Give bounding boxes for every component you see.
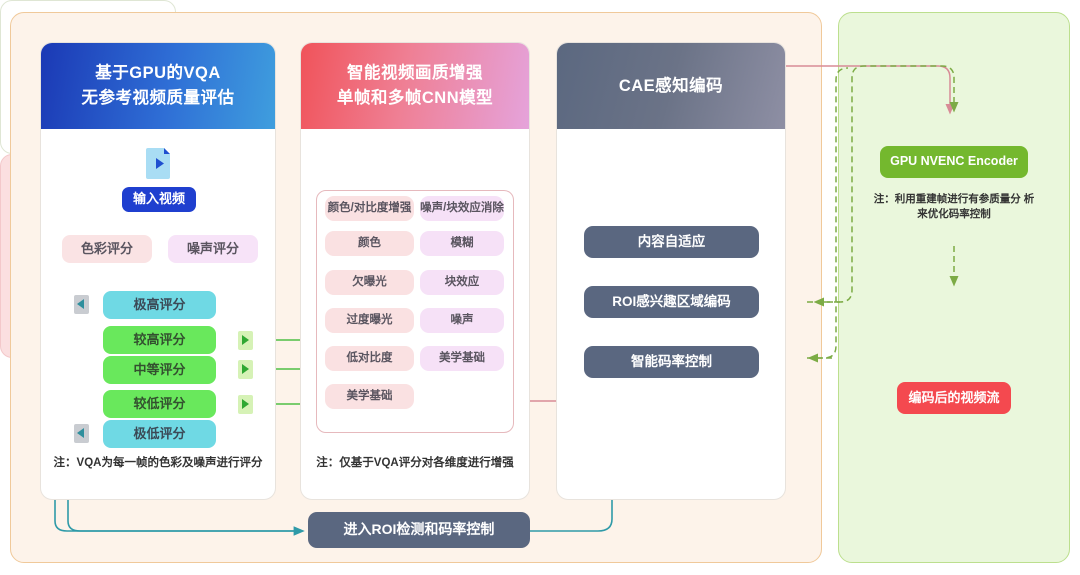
node-noise-score[interactable]: 噪声评分 [168, 235, 258, 263]
node-level-very-high[interactable]: 极高评分 [103, 291, 216, 319]
connector-file-marker-very-low [74, 424, 89, 443]
node-color-score[interactable]: 色彩评分 [62, 235, 152, 263]
note-vqa: 注：VQA为每一帧的色彩及噪声进行评分 [48, 455, 268, 472]
node-input-video[interactable]: 输入视频 [122, 187, 196, 212]
column-enhance-header: 智能视频画质增强 单帧和多帧CNN模型 [301, 43, 529, 129]
node-smart-bitrate-control[interactable]: 智能码率控制 [584, 346, 759, 378]
right-outer-panel [838, 12, 1070, 563]
node-level-low[interactable]: 较低评分 [103, 390, 216, 418]
chip-overexposure[interactable]: 过度曝光 [325, 308, 414, 333]
note-enhance: 注：仅基于VQA评分对各维度进行增强 [308, 455, 522, 472]
column-vqa-header: 基于GPU的VQA 无参考视频质量评估 [41, 43, 275, 129]
chip-noise[interactable]: 噪声 [420, 308, 504, 333]
chip-color[interactable]: 颜色 [325, 231, 414, 256]
column-cae: CAE感知编码 [556, 42, 786, 500]
connector-file-marker-very-high [74, 295, 89, 314]
note-encoder: 注：利用重建帧进行有参质量分 析来优化码率控制 [872, 192, 1036, 222]
chip-color-contrast-enhance[interactable]: 颜色/对比度增强 [325, 196, 414, 221]
connector-file-marker-high [238, 331, 253, 350]
column-cae-header: CAE感知编码 [557, 43, 785, 129]
column-enhance-title-line1: 智能视频画质增强 [347, 61, 483, 86]
bottom-bar-roi-bitrate[interactable]: 进入ROI检测和码率控制 [308, 512, 530, 548]
chip-blur[interactable]: 模糊 [420, 231, 504, 256]
column-enhance-title-line2: 单帧和多帧CNN模型 [337, 86, 493, 111]
node-level-high[interactable]: 较高评分 [103, 326, 216, 354]
chip-underexposure[interactable]: 欠曝光 [325, 270, 414, 295]
chip-aesthetic-base-left[interactable]: 美学基础 [325, 384, 414, 409]
diagram-canvas: 基于GPU的VQA 无参考视频质量评估 输入视频 色彩评分 噪声评分 极高评分 … [0, 0, 1080, 575]
node-level-very-low[interactable]: 极低评分 [103, 420, 216, 448]
chip-noise-block-removal[interactable]: 噪声/块效应消除 [420, 196, 504, 221]
chip-aesthetic-base-right[interactable]: 美学基础 [420, 346, 504, 371]
node-gpu-nvenc-encoder[interactable]: GPU NVENC Encoder [880, 146, 1028, 178]
connector-file-marker-low [238, 395, 253, 414]
column-vqa-title-line2: 无参考视频质量评估 [82, 86, 235, 111]
node-level-medium[interactable]: 中等评分 [103, 356, 216, 384]
video-file-icon [146, 146, 172, 179]
note-encoder-line1: 注：利用重建帧进行有参质量分 [874, 193, 1021, 205]
node-roi-encoding[interactable]: ROI感兴趣区域编码 [584, 286, 759, 318]
column-vqa-title-line1: 基于GPU的VQA [95, 61, 221, 86]
node-encoded-video-stream[interactable]: 编码后的视频流 [897, 382, 1011, 414]
chip-low-contrast[interactable]: 低对比度 [325, 346, 414, 371]
chip-blocking-artifact[interactable]: 块效应 [420, 270, 504, 295]
column-cae-title: CAE感知编码 [619, 74, 723, 99]
node-content-adaptive[interactable]: 内容自适应 [584, 226, 759, 258]
connector-file-marker-medium [238, 360, 253, 379]
